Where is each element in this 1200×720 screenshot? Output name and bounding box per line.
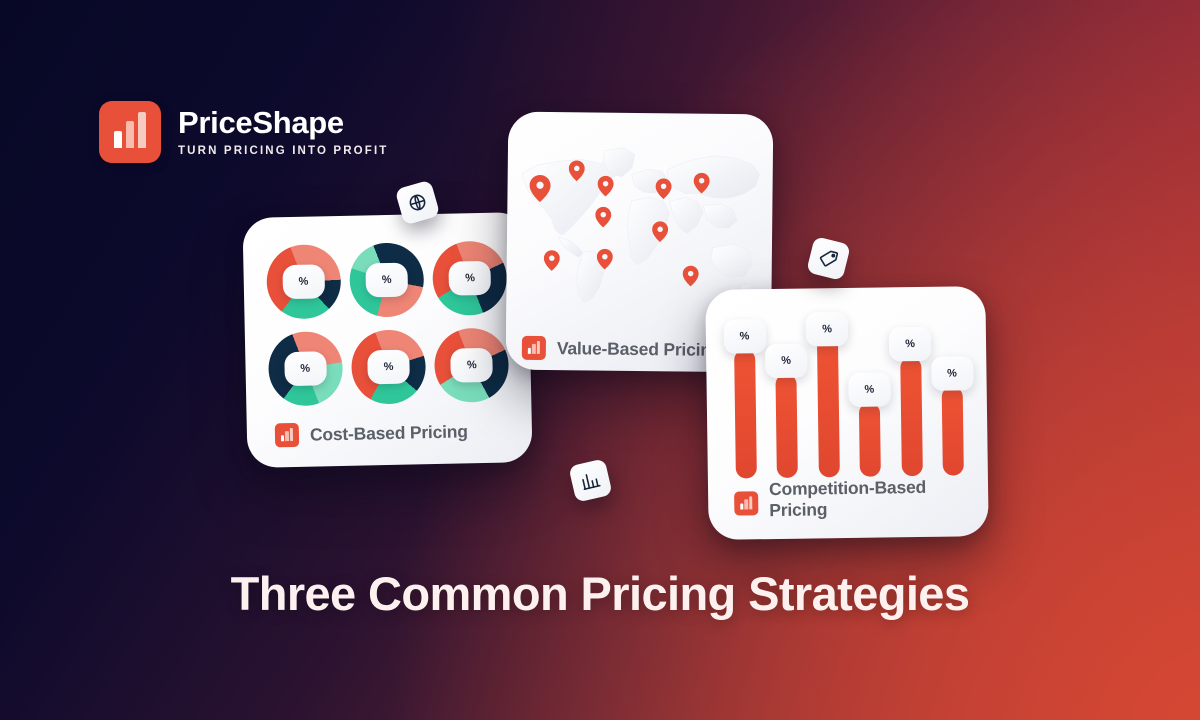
map-pin[interactable] [597,249,613,270]
brand-tagline: TURN PRICING INTO PROFIT [178,145,388,157]
percent-label: % [822,323,832,335]
donut-center-badge: % [282,264,325,299]
bar-value-badge: % [889,327,931,362]
bar [942,386,964,475]
bar-chart-icon [734,491,758,515]
donut-center-badge: % [284,351,327,386]
donut-center-badge: % [449,260,492,295]
donut-center-badge: % [365,262,408,297]
bar-chart-icon [99,101,161,163]
chart-icon [568,458,612,502]
percent-label: % [739,331,749,343]
map-pin[interactable] [569,160,585,181]
card-title: Competition-Based Pricing [769,476,989,520]
bar [817,335,840,477]
bar [900,357,923,476]
map-pin[interactable] [683,265,699,286]
map-pin[interactable] [529,175,550,202]
bar [859,402,881,477]
donut-chart: % [266,243,342,319]
card-title: Cost-Based Pricing [310,421,468,445]
world-map [506,134,773,307]
bar-value-badge: % [806,312,848,347]
bar-chart: %%%%%% [734,310,964,478]
percent-label: % [947,367,957,379]
brand-wordmark: PriceShape TURN PRICING INTO PROFIT [178,107,388,157]
price-tag-icon [806,236,851,281]
map-pin[interactable] [652,221,668,242]
map-pin[interactable] [655,178,671,199]
percent-label: % [905,338,915,350]
bar-chart-icon [522,336,546,360]
map-pin[interactable] [694,173,710,194]
card-label-competition: Competition-Based Pricing [734,476,989,521]
percent-label: % [298,275,308,287]
card-label-cost: Cost-Based Pricing [275,419,468,447]
bar-value-badge: % [765,344,807,379]
percent-label: % [864,383,874,395]
donut-chart: % [434,327,510,403]
map-pin[interactable] [595,207,611,228]
promo-graphic: PriceShape TURN PRICING INTO PROFIT %%%%… [0,0,1200,720]
brand-name: PriceShape [178,107,388,140]
card-cost-based-pricing[interactable]: %%%%%% Cost-Based Pricing [242,212,532,468]
bar-chart-icon [275,423,299,447]
percent-label: % [467,359,477,371]
donut-chart: % [432,240,508,316]
map-pin[interactable] [544,250,560,271]
card-competition-based-pricing[interactable]: %%%%%% Competition-Based Pricing [705,286,988,540]
bar-value-badge: % [848,372,890,407]
map-pin[interactable] [597,176,613,197]
percent-label: % [300,362,310,374]
donut-chart: % [349,242,425,318]
bar-value-badge: % [723,319,765,354]
bar [734,350,757,479]
bar-value-badge: % [931,356,973,391]
donut-chart-grid: %%%%%% [264,235,512,410]
card-label-value: Value-Based Pricing [522,336,722,362]
brand-logo: PriceShape TURN PRICING INTO PROFIT [99,101,388,163]
percent-label: % [465,272,475,284]
percent-label: % [382,273,392,285]
donut-chart: % [351,329,427,405]
percent-label: % [384,360,394,372]
donut-center-badge: % [451,347,494,382]
card-title: Value-Based Pricing [557,338,722,360]
page-title: Three Common Pricing Strategies [0,566,1200,621]
bar [776,374,798,478]
donut-center-badge: % [367,349,410,384]
percent-label: % [781,355,791,367]
donut-chart: % [267,330,343,406]
